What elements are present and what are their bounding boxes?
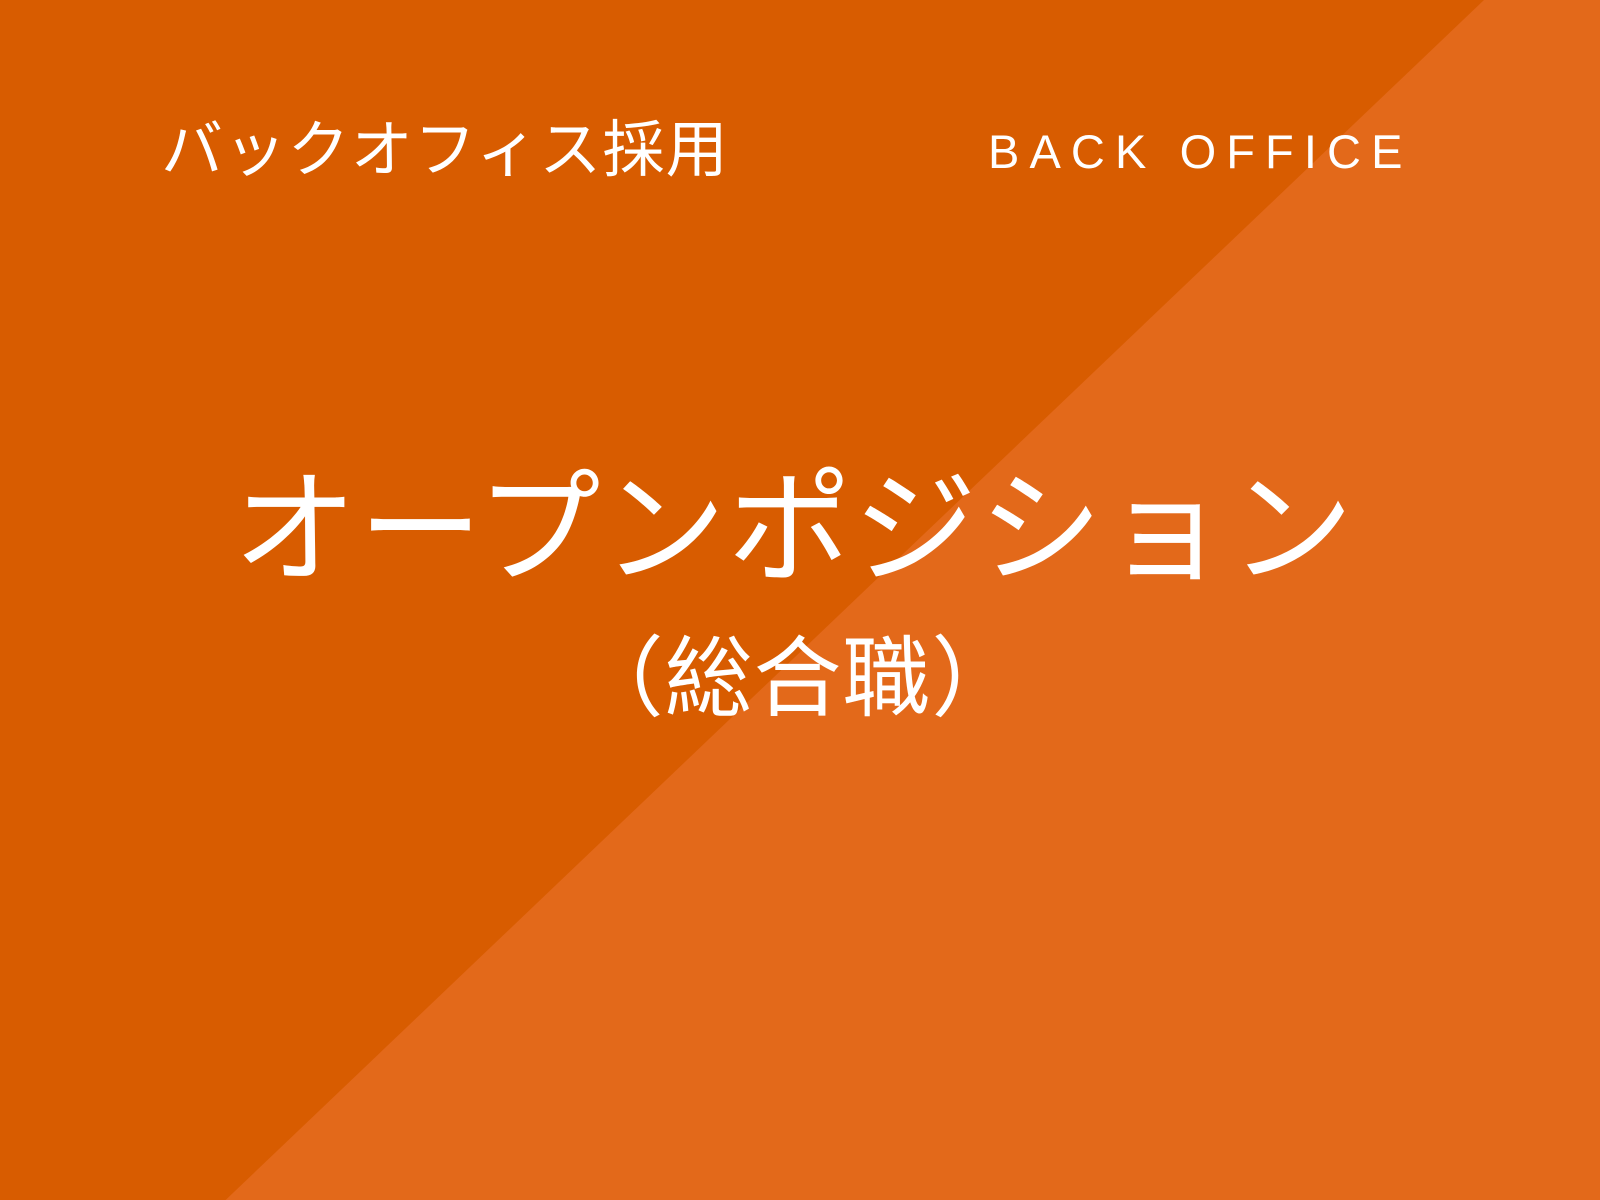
page-title: オープンポジション [0, 455, 1594, 605]
presentation-slide: バックオフィス採用 BACK OFFICE オープンポジション （総合職） [0, 0, 1600, 1200]
page-subtitle: （総合職） [0, 627, 1598, 731]
slide-title-block: オープンポジション （総合職） [0, 455, 1600, 731]
